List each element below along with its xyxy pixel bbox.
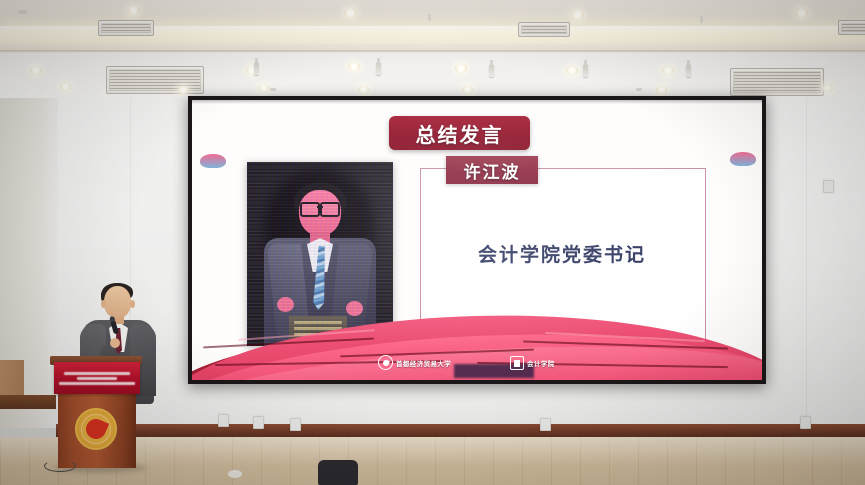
- wall-switch-plate[interactable]: [540, 418, 551, 431]
- downlight-icon: [566, 66, 578, 75]
- downlight-icon: [455, 64, 467, 73]
- left-wall-wood-panel: [0, 360, 24, 400]
- downlight-icon: [795, 8, 808, 18]
- wall-switch-plate[interactable]: [290, 418, 301, 431]
- speaker-name-badge: 许江波: [446, 156, 538, 184]
- slide-footer-logos: 首都经济贸易大学 会计学院: [192, 354, 762, 374]
- slide-title-badge: 总结发言: [389, 116, 530, 150]
- podium-banner-line: [77, 377, 117, 380]
- hvac-vent-icon: [106, 66, 204, 94]
- track-spotlight-icon: [489, 64, 494, 77]
- wall-seam: [806, 98, 807, 428]
- downlight-icon: [571, 10, 584, 20]
- downlight-icon: [30, 66, 42, 75]
- downlight-icon: [344, 8, 357, 18]
- university-logo: 首都经济贸易大学: [378, 355, 451, 370]
- school-logo: 会计学院: [510, 356, 555, 370]
- podium: [50, 356, 142, 468]
- track-spotlight-icon: [583, 64, 588, 77]
- soffit-shadow: [0, 50, 865, 53]
- downlight-icon: [358, 86, 369, 94]
- downlight-icon: [662, 66, 674, 75]
- hvac-vent-icon: [98, 20, 154, 36]
- downlight-icon: [822, 84, 833, 92]
- podium-cable: [44, 460, 76, 472]
- downlight-icon: [178, 86, 189, 94]
- downlight-icon: [60, 82, 71, 91]
- university-emblem-icon: [378, 355, 393, 370]
- slide-title-text: 总结发言: [416, 119, 504, 148]
- track-spotlight-icon: [686, 64, 691, 77]
- track-spotlight-icon: [376, 62, 381, 75]
- smoke-detector-icon: [636, 88, 642, 91]
- hvac-vent-icon: [838, 20, 865, 35]
- podium-banner-line: [59, 382, 135, 385]
- wall-switch-plate[interactable]: [800, 416, 811, 429]
- projection-screen: 总结发言: [188, 96, 766, 384]
- left-wall-trim: [0, 395, 56, 409]
- school-emblem-icon: [510, 356, 524, 370]
- smoke-detector-icon: [270, 88, 276, 91]
- podium-banner: [54, 362, 140, 394]
- hvac-vent-icon: [518, 22, 570, 37]
- downlight-icon: [348, 62, 360, 71]
- eyeglasses-icon: [300, 202, 340, 214]
- wall-switch-plate[interactable]: [253, 416, 264, 429]
- downlight-icon: [258, 84, 269, 92]
- wall-switch-plate[interactable]: [218, 414, 229, 427]
- hvac-vent-icon: [730, 68, 824, 96]
- smoke-detector-icon: [700, 16, 703, 23]
- downlight-icon: [127, 6, 140, 15]
- downlight-icon: [462, 86, 473, 94]
- speaker-name-text: 许江波: [464, 158, 521, 183]
- floor-cable-coil: [228, 470, 242, 478]
- wall-baseboard: [56, 424, 865, 437]
- podium-emblem-icon: [75, 408, 117, 450]
- screenshot-root: 总结发言: [0, 0, 865, 485]
- floor-equipment-case: [318, 460, 358, 485]
- smoke-detector-icon: [18, 10, 27, 14]
- podium-banner-line: [64, 372, 130, 375]
- wall-switch-plate[interactable]: [823, 180, 834, 193]
- smoke-detector-icon: [428, 14, 431, 21]
- track-spotlight-icon: [254, 62, 259, 75]
- speaker-title-text: 会计学院党委书记: [420, 240, 704, 267]
- downlight-icon: [656, 86, 667, 94]
- projected-image: 总结发言: [192, 100, 762, 380]
- presentation-slide: 总结发言: [192, 100, 762, 380]
